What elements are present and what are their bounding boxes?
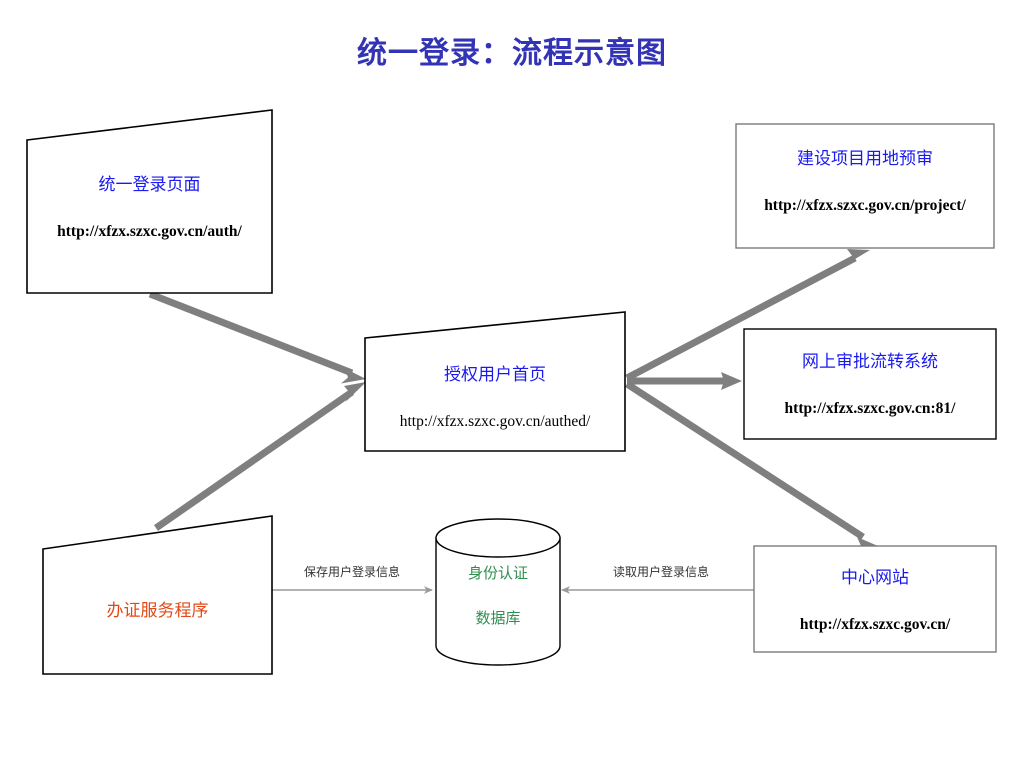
node-authed-home-labels: 授权用户首页 http://xfzx.szxc.gov.cn/authed/ xyxy=(365,365,625,432)
node-cert-service-title: 办证服务程序 xyxy=(43,601,272,622)
edge-label-read-login-info: 读取用户登录信息 xyxy=(566,563,756,580)
node-auth-database-labels: 身份认证 数据库 xyxy=(436,564,560,628)
node-center-website-url: http://xfzx.szxc.gov.cn/ xyxy=(754,615,996,634)
node-center-website-labels: 中心网站 http://xfzx.szxc.gov.cn/ xyxy=(754,568,996,635)
node-approval-system-url: http://xfzx.szxc.gov.cn:81/ xyxy=(744,399,996,418)
node-center-website-title: 中心网站 xyxy=(754,568,996,589)
node-login-page-labels: 统一登录页面 http://xfzx.szxc.gov.cn/auth/ xyxy=(27,175,272,242)
node-auth-database-title-line2: 数据库 xyxy=(436,609,560,628)
edge-label-save-login-info: 保存用户登录信息 xyxy=(272,563,432,580)
node-project-preview-labels: 建设项目用地预审 http://xfzx.szxc.gov.cn/project… xyxy=(736,149,994,216)
node-project-preview-title: 建设项目用地预审 xyxy=(736,149,994,170)
node-login-page-url: http://xfzx.szxc.gov.cn/auth/ xyxy=(27,222,272,241)
page-title: 统一登录：流程示意图 xyxy=(262,28,762,72)
node-auth-database-title-line1: 身份认证 xyxy=(436,564,560,583)
node-approval-system-labels: 网上审批流转系统 http://xfzx.szxc.gov.cn:81/ xyxy=(744,352,996,419)
node-approval-system-title: 网上审批流转系统 xyxy=(744,352,996,373)
node-login-page-title: 统一登录页面 xyxy=(27,175,272,196)
node-project-preview-url: http://xfzx.szxc.gov.cn/project/ xyxy=(736,196,994,215)
diagram-canvas: 统一登录：流程示意图 统一登录页面 http://xfzx.szxc.gov.c… xyxy=(0,0,1024,768)
diagram-text-layer: 统一登录：流程示意图 统一登录页面 http://xfzx.szxc.gov.c… xyxy=(0,0,1024,768)
node-cert-service-labels: 办证服务程序 xyxy=(43,601,272,622)
node-authed-home-title: 授权用户首页 xyxy=(365,365,625,386)
node-authed-home-url: http://xfzx.szxc.gov.cn/authed/ xyxy=(365,412,625,431)
